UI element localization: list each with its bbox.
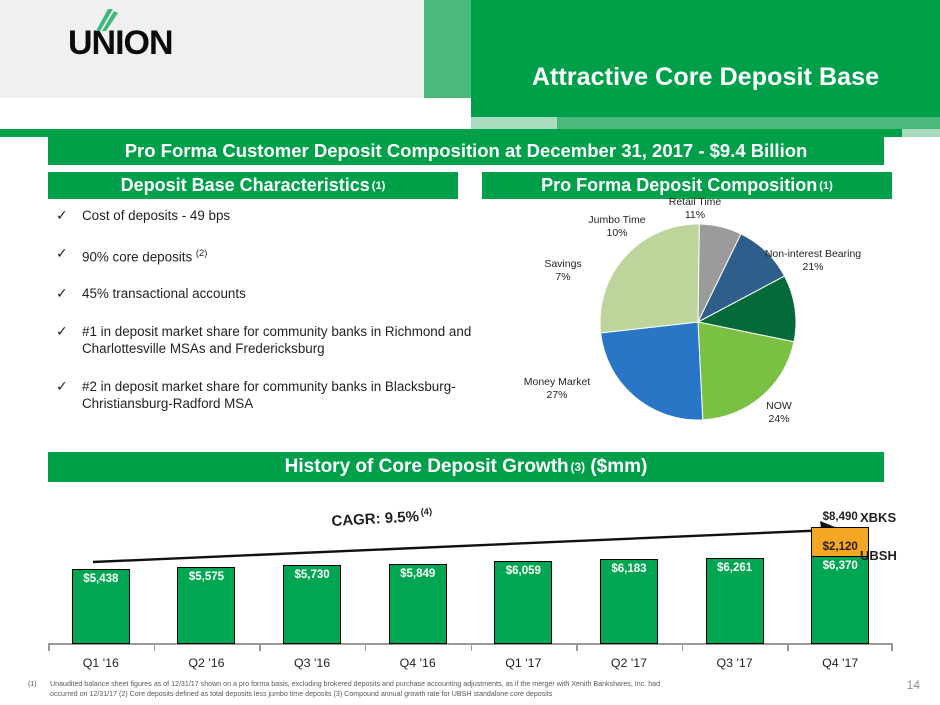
x-axis-label: Q2 '16 — [151, 656, 261, 670]
footnote: (1)Unaudited balance sheet figures as of… — [28, 679, 883, 699]
cagr-trend-arrow — [48, 484, 893, 670]
list-item-label: 45% transactional accounts — [82, 285, 246, 303]
union-logo-mark — [94, 9, 120, 31]
list-item-label: #2 in deposit market share for community… — [82, 378, 482, 413]
banner-main-label: Pro Forma Customer Deposit Composition a… — [125, 140, 808, 162]
bar-column: $5,438 — [72, 569, 130, 644]
pie-label-money-market: Money Market27% — [502, 376, 612, 401]
pie-slice — [600, 224, 699, 333]
bar-segment-ubsh: $5,849 — [389, 564, 447, 644]
page-number: 14 — [907, 678, 920, 692]
x-axis-label: Q1 '17 — [468, 656, 578, 670]
header-band-pale — [471, 117, 557, 129]
list-item: ✓Cost of deposits - 49 bps — [52, 207, 482, 225]
check-icon: ✓ — [52, 323, 82, 358]
union-logo: UNION — [68, 26, 173, 60]
banner-growth-label: History of Core Deposit Growth — [285, 456, 569, 478]
x-axis-tick — [682, 644, 684, 651]
banner-right-label: Pro Forma Deposit Composition — [541, 175, 817, 196]
x-axis-tick — [471, 644, 473, 651]
pie-label-value: 10% — [562, 227, 672, 240]
pie-label-non-interest-bearing: Non-interest Bearing21% — [758, 248, 868, 273]
list-item: ✓#2 in deposit market share for communit… — [52, 378, 482, 413]
pie-slice — [601, 322, 703, 420]
legend-ubsh: UBSH — [860, 548, 897, 563]
bar-segment-ubsh: $6,059 — [494, 561, 552, 644]
pie-label-name: Money Market — [502, 376, 612, 389]
x-axis-tick — [787, 644, 789, 651]
check-icon: ✓ — [52, 378, 82, 413]
x-axis-label: Q1 '16 — [46, 656, 156, 670]
x-axis-tick — [154, 644, 156, 651]
header-grey-panel — [0, 0, 424, 98]
list-item-label: Cost of deposits - 49 bps — [82, 207, 230, 225]
cagr-footnote-ref: (4) — [420, 506, 432, 517]
union-logo-text: UNION — [68, 26, 173, 60]
bar-segment-ubsh: $5,575 — [177, 567, 235, 644]
footnote-marker: (1) — [28, 679, 50, 689]
bar-segment-ubsh: $6,183 — [600, 559, 658, 644]
bar-value-ubsh: $5,849 — [390, 568, 446, 580]
bar-value-ubsh: $6,261 — [707, 562, 763, 574]
pie-label-name: Non-interest Bearing — [758, 248, 868, 261]
bar-column: $6,261 — [706, 558, 764, 644]
bar-column: $5,730 — [283, 565, 341, 644]
x-axis-tick — [365, 644, 367, 651]
pie-label-value: 21% — [758, 261, 868, 274]
x-axis-tick — [259, 644, 261, 651]
check-icon: ✓ — [52, 207, 82, 225]
legend-xbks: XBKS — [860, 510, 896, 525]
footnote-line-1: Unaudited balance sheet figures as of 12… — [50, 680, 660, 688]
list-item-label: 90% core deposits (2) — [82, 245, 207, 266]
banner-pro-forma-deposit-composition: Pro Forma Deposit Composition(1) — [482, 172, 892, 199]
x-axis-label: Q3 '17 — [680, 656, 790, 670]
bar-segment-ubsh: $6,261 — [706, 558, 764, 644]
check-icon: ✓ — [52, 285, 82, 303]
x-axis-label: Q3 '16 — [257, 656, 367, 670]
bar-column: $5,849 — [389, 564, 447, 644]
x-axis-tick — [48, 644, 50, 651]
pie-label-name: Jumbo Time — [562, 214, 672, 227]
banner-right-footnote-ref: (1) — [819, 180, 833, 192]
bar-value-ubsh: $6,183 — [601, 563, 657, 575]
list-item: ✓90% core deposits (2) — [52, 245, 482, 266]
pie-label-name: Savings — [518, 258, 608, 271]
pie-label-name: NOW — [734, 400, 824, 413]
bar-value-ubsh: $6,059 — [495, 565, 551, 577]
check-icon: ✓ — [52, 245, 82, 266]
deposit-composition-pie-chart: Retail Time11%Non-interest Bearing21%NOW… — [490, 200, 930, 445]
pie-label-savings: Savings7% — [518, 258, 608, 283]
bar-column: $2,120$6,370 — [811, 527, 869, 644]
pie-label-jumbo-time: Jumbo Time10% — [562, 214, 672, 239]
bar-value-ubsh: $5,575 — [178, 571, 234, 583]
pie-svg — [490, 200, 930, 445]
pie-label-now: NOW24% — [734, 400, 824, 425]
pie-label-value: 7% — [518, 271, 608, 284]
deposit-characteristics-list: ✓Cost of deposits - 49 bps✓90% core depo… — [52, 207, 482, 433]
pie-label-value: 24% — [734, 413, 824, 426]
footnote-ref: (2) — [196, 248, 207, 258]
x-axis-label: Q4 '17 — [785, 656, 895, 670]
bar-value-ubsh: $5,730 — [284, 569, 340, 581]
banner-deposit-base-characteristics: Deposit Base Characteristics(1) — [48, 172, 458, 199]
pie-label-name: Retail Time — [640, 196, 750, 209]
banner-growth-units: ($mm) — [590, 456, 647, 478]
bar-segment-ubsh: $5,730 — [283, 565, 341, 644]
pie-label-value: 27% — [502, 389, 612, 402]
bar-column: $6,059 — [494, 561, 552, 644]
bar-column: $5,575 — [177, 567, 235, 644]
page-title: Attractive Core Deposit Base — [471, 0, 940, 117]
list-item-label: #1 in deposit market share for community… — [82, 323, 482, 358]
bar-value-ubsh: $5,438 — [73, 573, 129, 585]
x-axis-tick — [891, 644, 893, 651]
banner-pro-forma-composition: Pro Forma Customer Deposit Composition a… — [48, 136, 884, 165]
list-item: ✓45% transactional accounts — [52, 285, 482, 303]
bar-segment-ubsh: $5,438 — [72, 569, 130, 644]
bar-segment-ubsh: $6,370 — [811, 556, 869, 644]
x-axis-tick — [576, 644, 578, 651]
list-item: ✓#1 in deposit market share for communit… — [52, 323, 482, 358]
banner-left-label: Deposit Base Characteristics — [121, 175, 370, 196]
x-axis-label: Q4 '16 — [363, 656, 473, 670]
banner-left-footnote-ref: (1) — [372, 180, 386, 192]
banner-growth-footnote-ref: (3) — [571, 461, 585, 474]
header-rule-cap — [902, 129, 940, 137]
x-axis-label: Q2 '17 — [574, 656, 684, 670]
core-deposit-growth-bar-chart: $5,438Q1 '16$5,575Q2 '16$5,730Q3 '16$5,8… — [48, 484, 893, 670]
banner-history-core-deposit-growth: History of Core Deposit Growth(3) ($mm) — [48, 452, 884, 482]
footnote-line-2: occurred on 12/31/17 (2) Core deposits d… — [50, 690, 552, 698]
bar-column: $6,183 — [600, 559, 658, 644]
